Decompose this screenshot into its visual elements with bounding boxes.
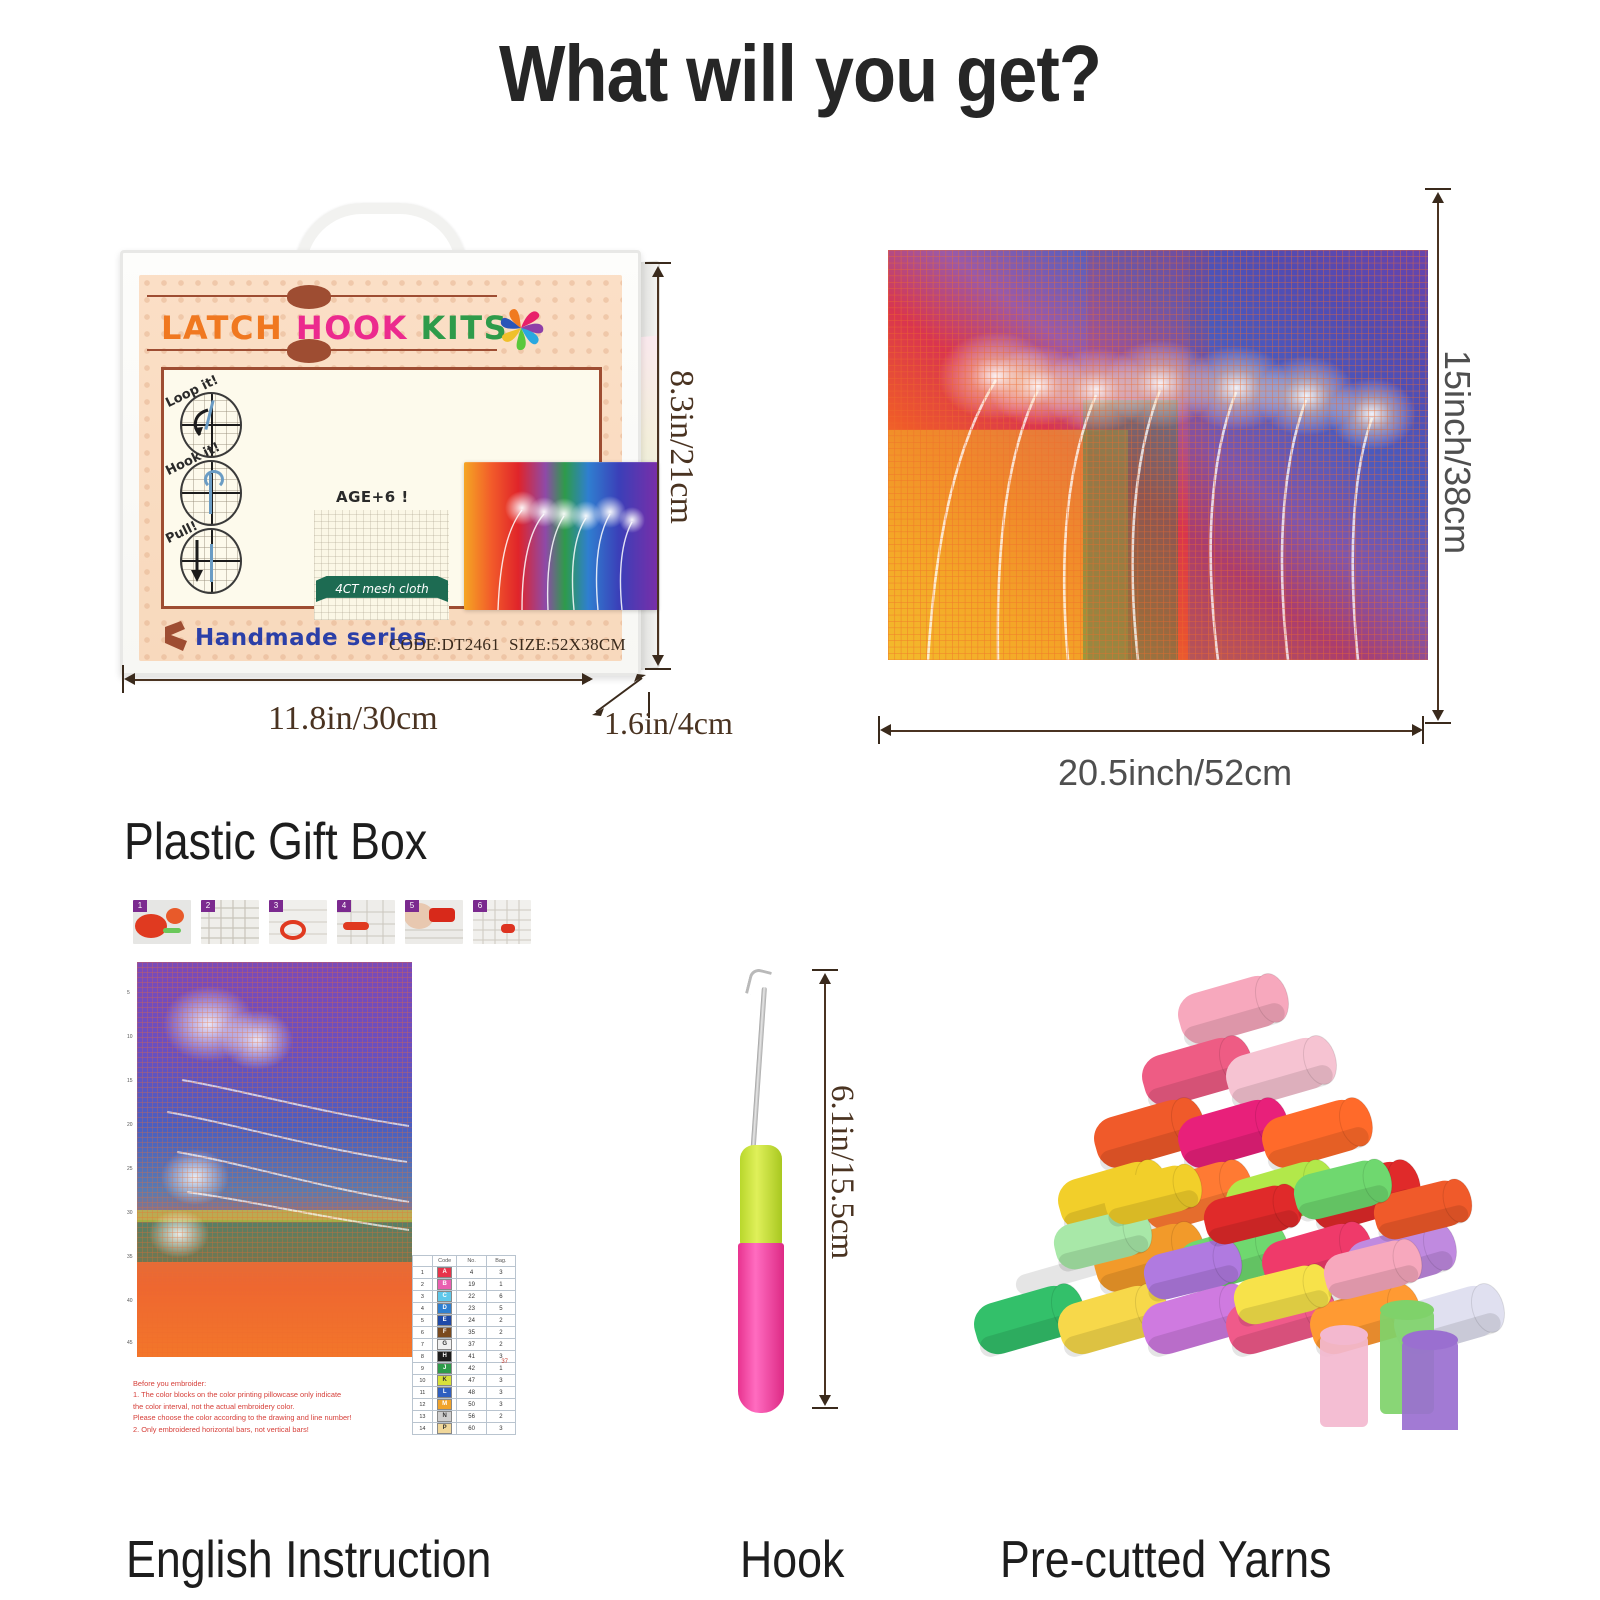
legend-index: 6: [413, 1327, 433, 1339]
legend-row: 5E242: [413, 1315, 516, 1327]
legend-index: 3: [413, 1291, 433, 1303]
legend-bag: 2: [486, 1327, 515, 1339]
axis-tick: 5: [127, 990, 130, 996]
step-badge: 5: [405, 900, 419, 912]
axis-tick: 45: [127, 1340, 133, 1346]
legend-number: 50: [457, 1399, 486, 1411]
legend-code-swatch: K: [432, 1375, 457, 1387]
yarn-jar: [1320, 1325, 1368, 1427]
step-photo-4: 4 4: [337, 900, 395, 944]
step-badge: 2: [201, 900, 215, 912]
chart-axis-ticks: 5 10 15 20 25 30 35 40 45: [125, 962, 137, 1357]
before-line-2: the color interval, not the actual embro…: [133, 1401, 393, 1412]
age-recommendation: AGE+6 !: [336, 488, 409, 506]
step-circle-pull: [180, 528, 242, 594]
yarns-figure: [950, 940, 1510, 1430]
hook-length-label: 6.1in/15.5cm: [823, 1085, 860, 1259]
brand-word-latch: LATCH: [161, 309, 283, 347]
product-code-text: CODE:DT2461: [389, 635, 500, 655]
preview-art: [464, 462, 658, 610]
axis-tick: 20: [127, 1122, 133, 1128]
legend-header-code: Code: [432, 1256, 457, 1267]
before-line-3: Please choose the color according to the…: [133, 1412, 393, 1423]
legend-code-swatch: P: [432, 1423, 457, 1435]
step-yarn: [210, 544, 213, 582]
step-badge: 4: [337, 900, 351, 912]
legend-index: 5: [413, 1315, 433, 1327]
before-you-embroider-block: Before you embroider: 1. The color block…: [133, 1378, 393, 1435]
legend-code-swatch: F: [432, 1327, 457, 1339]
legend-index: 1: [413, 1267, 433, 1279]
legend-header-bag: Bag.: [486, 1256, 515, 1267]
step-photo-2: 2 2: [201, 900, 259, 944]
page-title: What will you get?: [96, 28, 1504, 120]
legend-number: 22: [457, 1291, 486, 1303]
legend-row: 2B191: [413, 1279, 516, 1291]
canvas-artwork: [888, 250, 1428, 660]
legend-header-row: Code No. Bag.: [413, 1256, 516, 1267]
yarns-item-label: Pre-cutted Yarns: [1000, 1530, 1331, 1590]
step-photo-6: 6 6: [473, 900, 531, 944]
brand-title: LATCH HOOK KITS: [161, 309, 508, 347]
legend-code-swatch: G: [432, 1339, 457, 1351]
instruction-chart-artwork: [137, 962, 412, 1357]
infographic-page: What will you get? LATCH HOOK KITS: [0, 0, 1600, 1600]
legend-row: 12M503: [413, 1399, 516, 1411]
axis-tick: 35: [127, 1254, 133, 1260]
legend-code-swatch: D: [432, 1303, 457, 1315]
step-photo-3: 3 3: [269, 900, 327, 944]
legend-code-swatch: B: [432, 1279, 457, 1291]
legend-bag: 2: [486, 1315, 515, 1327]
product-size-text: SIZE:52X38CM: [509, 635, 626, 655]
box-height-label: 8.3in/21cm: [662, 370, 700, 524]
axis-tick: 15: [127, 1078, 133, 1084]
box-front-face: LATCH HOOK KITS Lo: [120, 250, 641, 676]
axis-tick: 40: [127, 1298, 133, 1304]
gift-box-figure: LATCH HOOK KITS Lo: [110, 195, 670, 695]
pinwheel-logo-icon: [491, 297, 551, 359]
legend-bag: 3: [486, 1387, 515, 1399]
loop-arrow-icon: [188, 408, 212, 438]
legend-bag: 6: [486, 1291, 515, 1303]
handmade-mark-icon: [161, 617, 195, 655]
color-legend-table: Code No. Bag. 1A432B1913C2264D2355E2426F…: [412, 1255, 516, 1435]
box-instruction-panel: Loop it! Hook it!: [161, 367, 602, 609]
box-width-label: 11.8in/30cm: [268, 700, 438, 738]
legend-number: 35: [457, 1327, 486, 1339]
legend-row: 6F352: [413, 1327, 516, 1339]
legend-number: 48: [457, 1387, 486, 1399]
step-badge: 3: [269, 900, 283, 912]
yarn-pile-art: [950, 940, 1510, 1430]
legend-number: 4: [457, 1267, 486, 1279]
legend-row: 3C226: [413, 1291, 516, 1303]
legend-number: 47: [457, 1375, 486, 1387]
before-line-4: 2. Only embroidered horizontal bars, not…: [133, 1424, 393, 1435]
legend-bag: 1: [486, 1279, 515, 1291]
box-cover-card: LATCH HOOK KITS Lo: [139, 275, 622, 661]
yarn-jar: [1402, 1330, 1458, 1430]
legend-number: 24: [457, 1315, 486, 1327]
hook-item-label: Hook: [740, 1530, 844, 1590]
legend-bag: 3: [486, 1375, 515, 1387]
hook-figure: 6.1in/15.5cm: [690, 955, 910, 1455]
legend-header-index: [413, 1256, 433, 1267]
step-loop-icon: [204, 470, 224, 489]
legend-row: 10K473: [413, 1375, 516, 1387]
step-photo-5: 5 5: [405, 900, 463, 944]
canvas-figure: 15inch/38cm 20.5inch/52cm: [860, 180, 1480, 780]
pull-arrow-icon: [190, 540, 204, 584]
box-depth-label: 1.6in/4cm: [604, 705, 733, 742]
legend-code-swatch: L: [432, 1387, 457, 1399]
legend-row: 11L483: [413, 1387, 516, 1399]
legend-number: 23: [457, 1303, 486, 1315]
legend-index: 12: [413, 1399, 433, 1411]
hook-handle-upper: [740, 1145, 782, 1245]
legend-row: 7G372: [413, 1339, 516, 1351]
card-badge-top: [287, 285, 331, 309]
legend-row: 4D235: [413, 1303, 516, 1315]
legend-index: 10: [413, 1375, 433, 1387]
hook-needle: [750, 987, 767, 1157]
legend-index: 13: [413, 1411, 433, 1423]
brand-word-hook: HOOK: [296, 309, 408, 347]
axis-tick: 30: [127, 1210, 133, 1216]
axis-tick: 25: [127, 1166, 133, 1172]
legend-code-swatch: E: [432, 1315, 457, 1327]
legend-row: 14P603: [413, 1423, 516, 1435]
legend-code-swatch: M: [432, 1399, 457, 1411]
axis-tick: 10: [127, 1034, 133, 1040]
legend-bag: 3: [486, 1399, 515, 1411]
legend-bag: 3: [486, 1267, 515, 1279]
legend-index: 2: [413, 1279, 433, 1291]
design-preview-image: [464, 462, 658, 610]
before-line-1: 1. The color blocks on the color printin…: [133, 1389, 393, 1400]
canvas-height-label: 15inch/38cm: [1436, 350, 1478, 554]
legend-code-swatch: A: [432, 1267, 457, 1279]
legend-index: 7: [413, 1339, 433, 1351]
legend-code-swatch: N: [432, 1411, 457, 1423]
legend-total: 37: [412, 1359, 516, 1365]
legend-bag: 3: [486, 1423, 515, 1435]
legend-number: 37: [457, 1339, 486, 1351]
canvas-art-svg: [888, 250, 1428, 660]
step-badge: 6: [473, 900, 487, 912]
step-photos-row: 1 1 2 2 3: [133, 900, 533, 948]
chart-art-svg: [137, 962, 412, 1357]
mesh-cloth-swatch: [314, 510, 449, 620]
instruction-item-label: English Instruction: [126, 1530, 491, 1590]
legend-bag: 2: [486, 1411, 515, 1423]
gift-box-item-label: Plastic Gift Box: [124, 812, 427, 872]
canvas-width-label: 20.5inch/52cm: [1058, 752, 1292, 794]
legend-row: 1A43: [413, 1267, 516, 1279]
step-circle-hook: [180, 460, 242, 526]
legend-index: 14: [413, 1423, 433, 1435]
legend-index: 4: [413, 1303, 433, 1315]
before-title: Before you embroider:: [133, 1378, 393, 1389]
legend-body: 1A432B1913C2264D2355E2426F3527G3728H4139…: [413, 1267, 516, 1435]
legend-row: 13N562: [413, 1411, 516, 1423]
hook-handle-lower: [738, 1243, 784, 1413]
legend-index: 11: [413, 1387, 433, 1399]
legend-number: 19: [457, 1279, 486, 1291]
legend-bag: 2: [486, 1339, 515, 1351]
hook-tip-icon: [745, 967, 772, 998]
legend-code-swatch: C: [432, 1291, 457, 1303]
legend-number: 56: [457, 1411, 486, 1423]
legend-number: 60: [457, 1423, 486, 1435]
legend-bag: 5: [486, 1303, 515, 1315]
instruction-sheet-figure: 1 1 2 2 3: [125, 900, 545, 1470]
step-photo-1: 1 1: [133, 900, 191, 944]
step-badge: 1: [133, 900, 147, 912]
legend-header-no: No.: [457, 1256, 486, 1267]
